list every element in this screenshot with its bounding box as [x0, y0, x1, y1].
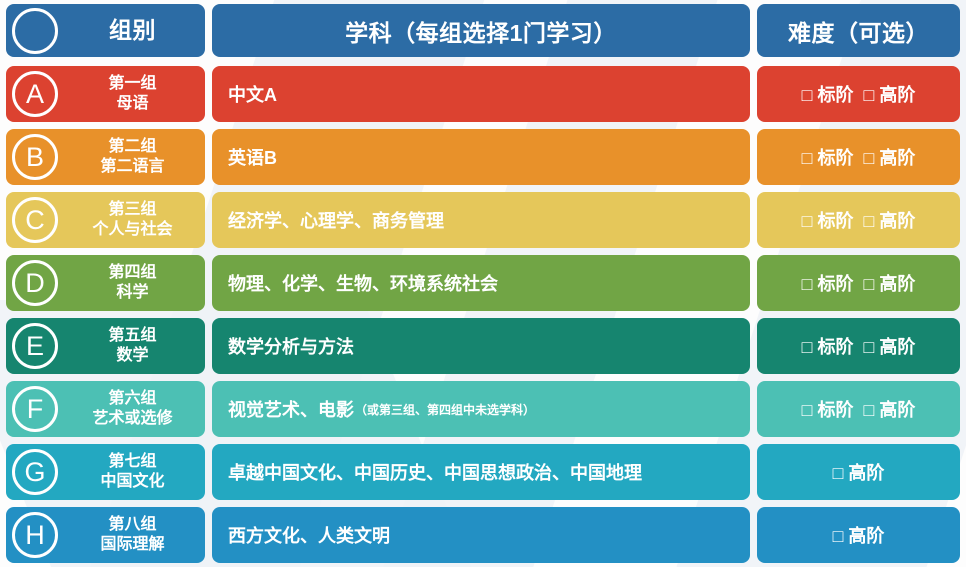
subject-cell: 经济学、心理学、商务管理: [212, 192, 750, 248]
difficulty-checkbox-option[interactable]: □ 高阶: [833, 522, 885, 548]
group-badge-e: E: [12, 323, 58, 369]
group-badge-b: B: [12, 134, 58, 180]
subject-cell: 卓越中国文化、中国历史、中国思想政治、中国地理: [212, 444, 750, 500]
difficulty-cell: □ 标阶□ 高阶: [757, 255, 960, 311]
table-row: G第七组中国文化卓越中国文化、中国历史、中国思想政治、中国地理□ 高阶: [6, 444, 960, 500]
group-name-line2: 第二语言: [100, 157, 164, 177]
header-circle-icon: [12, 8, 58, 54]
group-name-line1: 第一组: [108, 74, 156, 94]
difficulty-checkbox-option[interactable]: □ 标阶: [802, 270, 854, 296]
group-name-line1: 第五组: [108, 326, 156, 346]
table-row: B第二组第二语言英语B□ 标阶□ 高阶: [6, 129, 960, 185]
subject-cell: 视觉艺术、电影（或第三组、第四组中未选学科）: [212, 381, 750, 437]
subject-cell: 中文A: [212, 66, 750, 122]
difficulty-checkbox-option[interactable]: □ 标阶: [802, 144, 854, 170]
group-name-lines: 第八组国际理解: [100, 515, 164, 554]
difficulty-checkbox-option[interactable]: □ 高阶: [833, 459, 885, 485]
table-row: E第五组数学数学分析与方法□ 标阶□ 高阶: [6, 318, 960, 374]
group-name-line1: 第七组: [100, 452, 164, 472]
difficulty-cell: □ 标阶□ 高阶: [757, 129, 960, 185]
difficulty-checkbox-option[interactable]: □ 标阶: [802, 396, 854, 422]
group-badge-h: H: [12, 512, 58, 558]
subject-selection-table-page: 组别学科（每组选择1门学习）难度（可选）A第一组母语中文A□ 标阶□ 高阶B第二…: [0, 0, 966, 567]
group-name-line1: 第六组: [92, 389, 172, 409]
subject-text: 中文A: [228, 81, 277, 107]
difficulty-checkbox-option[interactable]: □ 高阶: [864, 270, 916, 296]
subject-text: 视觉艺术、电影: [228, 396, 354, 422]
difficulty-cell: □ 标阶□ 高阶: [757, 66, 960, 122]
subject-text: 物理、化学、生物、环境系统社会: [228, 270, 498, 296]
group-name-line1: 第四组: [108, 263, 156, 283]
difficulty-checkbox-option[interactable]: □ 标阶: [802, 81, 854, 107]
group-name-lines: 第四组科学: [108, 263, 156, 302]
group-name-line2: 母语: [108, 94, 156, 114]
subject-text: 经济学、心理学、商务管理: [228, 207, 444, 233]
difficulty-cell: □ 标阶□ 高阶: [757, 318, 960, 374]
subject-cell: 数学分析与方法: [212, 318, 750, 374]
group-name-line2: 科学: [108, 283, 156, 303]
table-row: D第四组科学物理、化学、生物、环境系统社会□ 标阶□ 高阶: [6, 255, 960, 311]
difficulty-checkbox-option[interactable]: □ 标阶: [802, 333, 854, 359]
group-name-lines: 第一组母语: [108, 74, 156, 113]
group-name-line2: 国际理解: [100, 535, 164, 555]
subject-cell: 英语B: [212, 129, 750, 185]
table-row: F第六组艺术或选修视觉艺术、电影（或第三组、第四组中未选学科）□ 标阶□ 高阶: [6, 381, 960, 437]
group-name-lines: 第二组第二语言: [100, 137, 164, 176]
group-badge-a: A: [12, 71, 58, 117]
difficulty-checkbox-option[interactable]: □ 标阶: [802, 207, 854, 233]
subject-cell: 西方文化、人类文明: [212, 507, 750, 563]
group-name-lines: 第七组中国文化: [100, 452, 164, 491]
difficulty-cell: □ 标阶□ 高阶: [757, 192, 960, 248]
group-badge-c: C: [12, 197, 58, 243]
subject-text: 卓越中国文化、中国历史、中国思想政治、中国地理: [228, 459, 642, 485]
group-name-line2: 艺术或选修: [92, 409, 172, 429]
difficulty-checkbox-option[interactable]: □ 高阶: [864, 396, 916, 422]
difficulty-cell: □ 高阶: [757, 507, 960, 563]
header-subject-column: 学科（每组选择1门学习）: [212, 4, 750, 57]
table-row: H第八组国际理解西方文化、人类文明□ 高阶: [6, 507, 960, 563]
group-name-line2: 数学: [108, 346, 156, 366]
group-badge-g: G: [12, 449, 58, 495]
subject-text: 西方文化、人类文明: [228, 522, 390, 548]
group-subject-table: 组别学科（每组选择1门学习）难度（可选）A第一组母语中文A□ 标阶□ 高阶B第二…: [0, 0, 966, 567]
difficulty-checkbox-option[interactable]: □ 高阶: [864, 144, 916, 170]
group-name-line1: 第二组: [100, 137, 164, 157]
subject-text: 数学分析与方法: [228, 333, 354, 359]
group-badge-d: D: [12, 260, 58, 306]
table-header-row: 组别学科（每组选择1门学习）难度（可选）: [6, 4, 960, 57]
header-difficulty-column: 难度（可选）: [757, 4, 960, 57]
group-name-line1: 第三组: [92, 200, 172, 220]
group-name-lines: 第六组艺术或选修: [92, 389, 172, 428]
subject-cell: 物理、化学、生物、环境系统社会: [212, 255, 750, 311]
difficulty-checkbox-option[interactable]: □ 高阶: [864, 81, 916, 107]
difficulty-cell: □ 标阶□ 高阶: [757, 381, 960, 437]
difficulty-checkbox-option[interactable]: □ 高阶: [864, 333, 916, 359]
table-row: A第一组母语中文A□ 标阶□ 高阶: [6, 66, 960, 122]
difficulty-checkbox-option[interactable]: □ 高阶: [864, 207, 916, 233]
group-name-line2: 中国文化: [100, 472, 164, 492]
subject-note-text: （或第三组、第四组中未选学科）: [355, 401, 535, 418]
difficulty-cell: □ 高阶: [757, 444, 960, 500]
group-name-line1: 第八组: [100, 515, 164, 535]
group-name-lines: 第三组个人与社会: [92, 200, 172, 239]
group-name-lines: 第五组数学: [108, 326, 156, 365]
table-row: C第三组个人与社会经济学、心理学、商务管理□ 标阶□ 高阶: [6, 192, 960, 248]
subject-text: 英语B: [228, 144, 277, 170]
group-name-line2: 个人与社会: [92, 220, 172, 240]
group-badge-f: F: [12, 386, 58, 432]
